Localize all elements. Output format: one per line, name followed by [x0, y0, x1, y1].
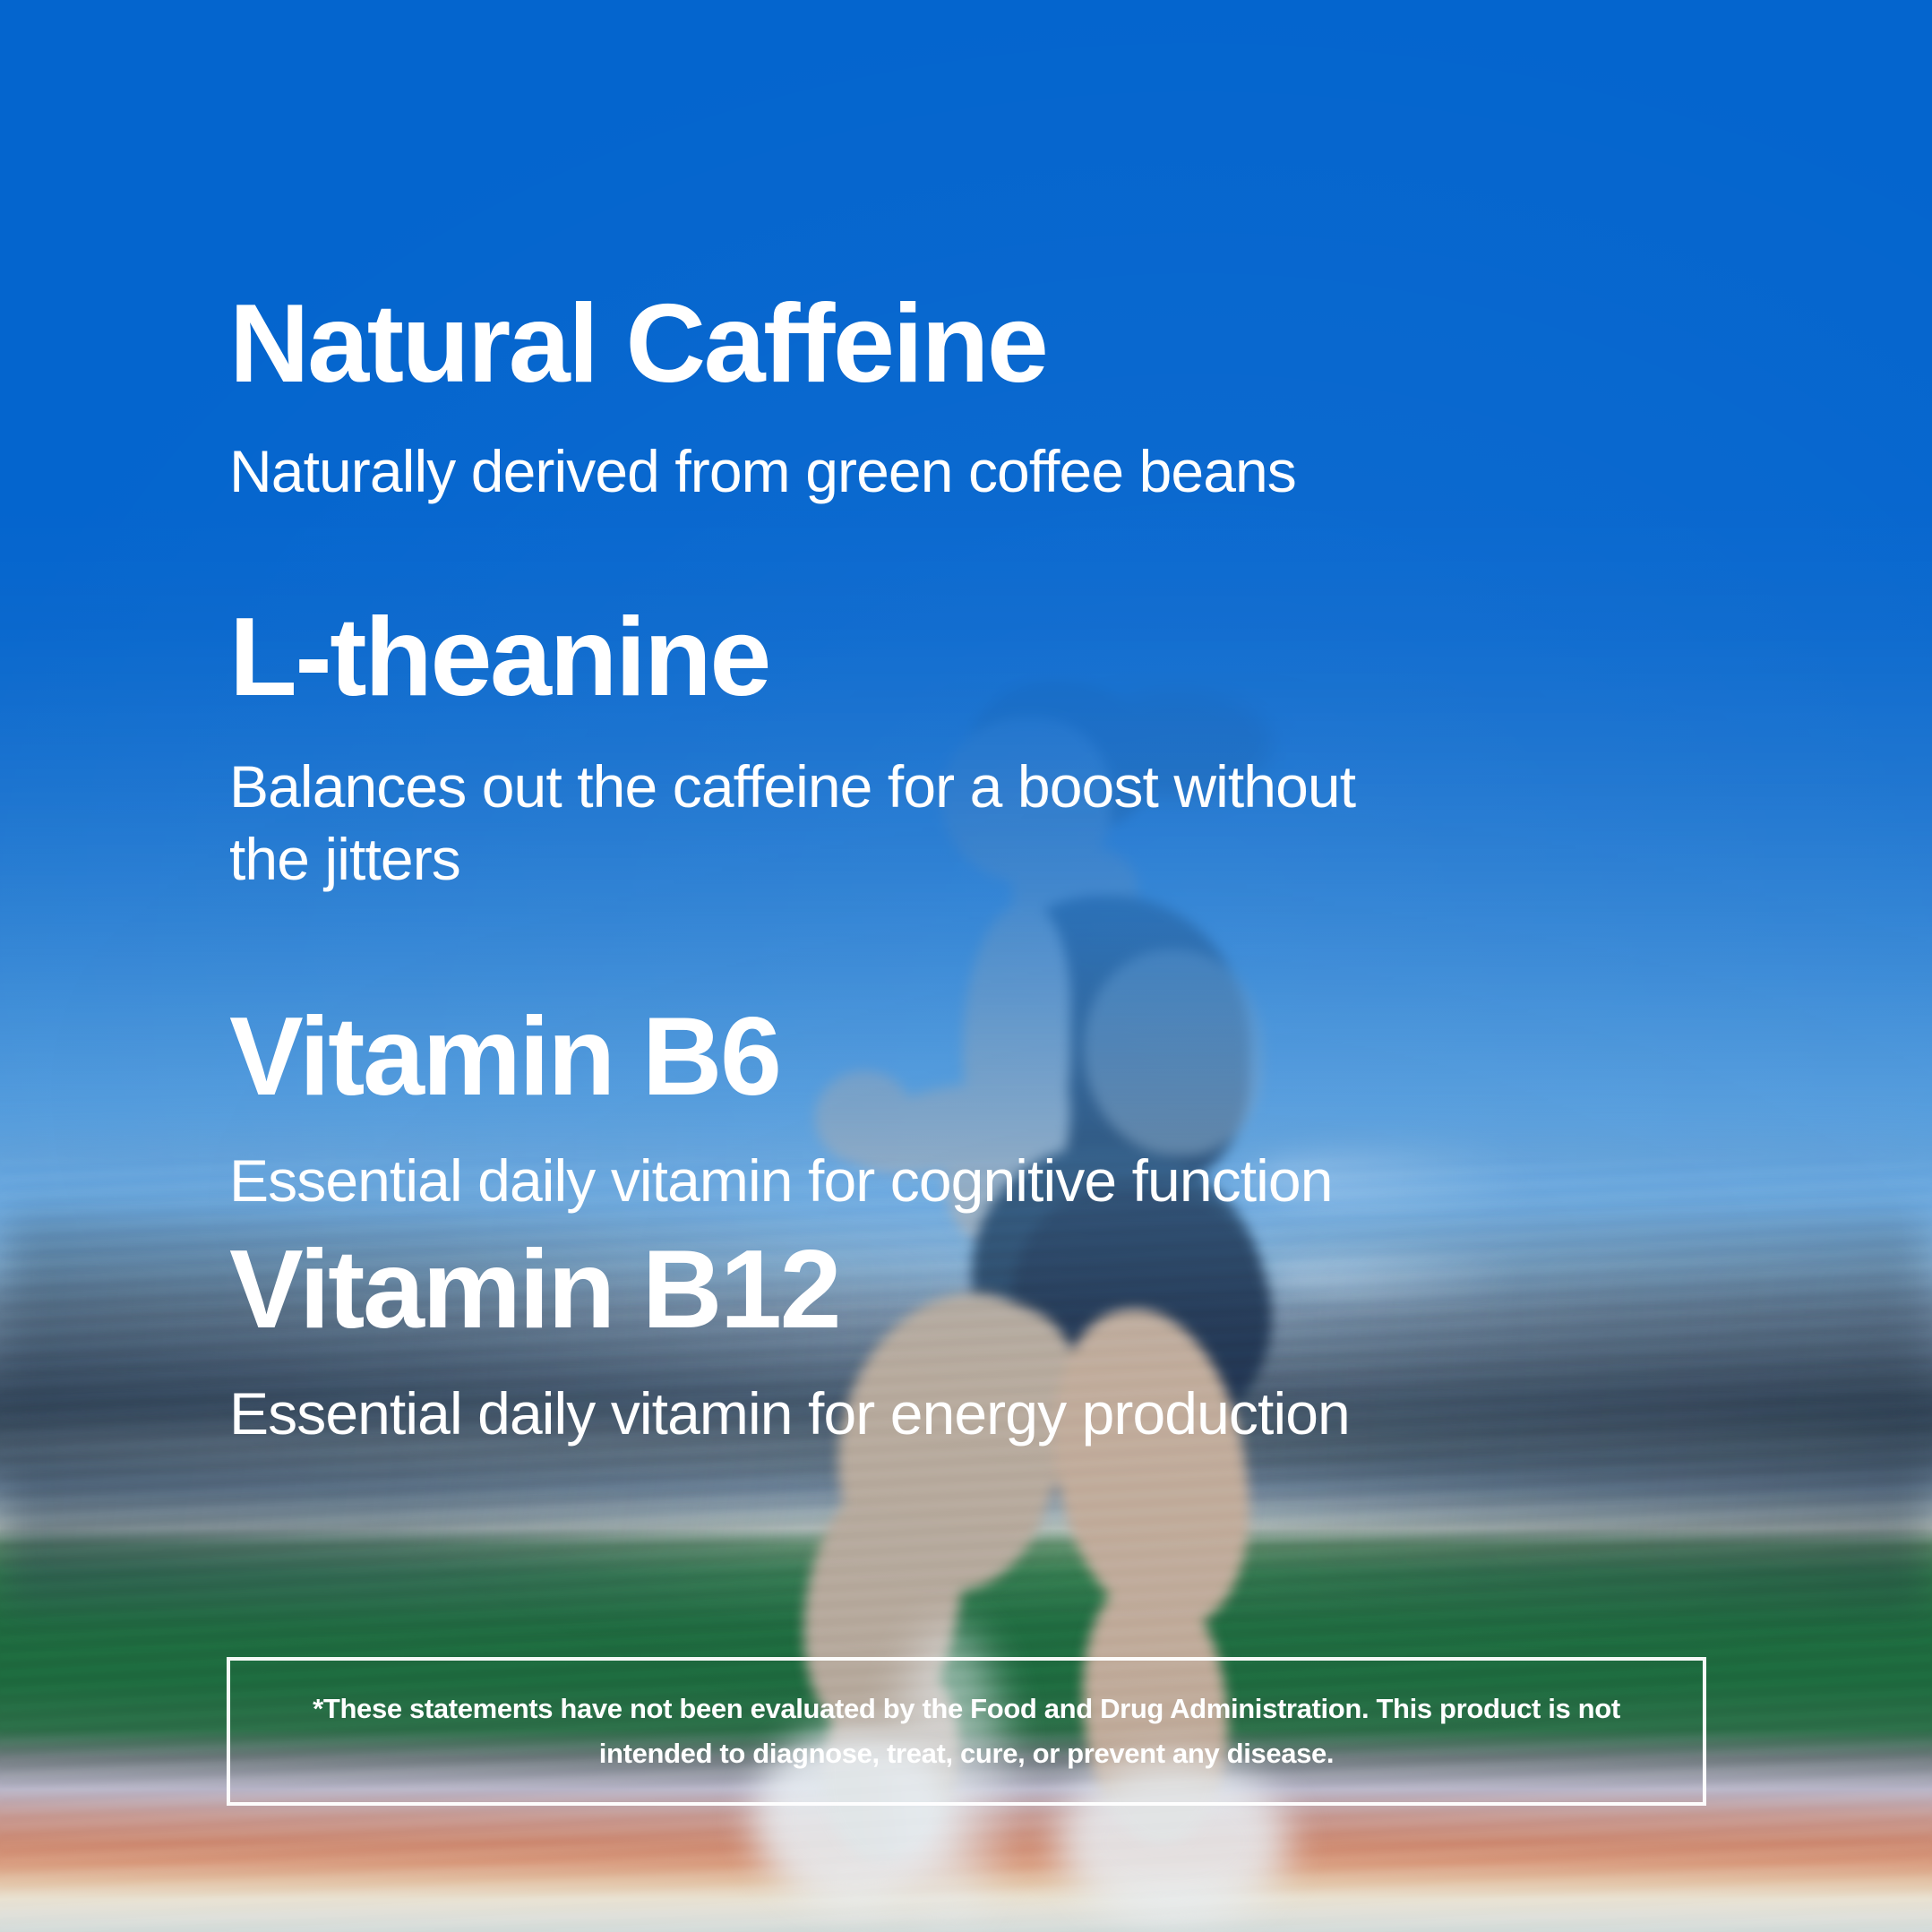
ingredient-body-caffeine: Naturally derived from green coffee bean…	[229, 435, 1296, 508]
ingredient-block-b12: Vitamin B12 Essential daily vitamin for …	[229, 1234, 1350, 1450]
disclaimer-box: *These statements have not been evaluate…	[227, 1657, 1706, 1806]
ingredient-heading-theanine: L-theanine	[229, 602, 1376, 713]
ingredient-block-b6: Vitamin B6 Essential daily vitamin for c…	[229, 1001, 1333, 1217]
ingredient-heading-b6: Vitamin B6	[229, 1001, 1333, 1112]
ingredient-heading-caffeine: Natural Caffeine	[229, 288, 1296, 399]
ingredient-body-b12: Essential daily vitamin for energy produ…	[229, 1378, 1350, 1450]
disclaimer-text: *These statements have not been evaluate…	[277, 1687, 1656, 1776]
content-overlay: Natural Caffeine Naturally derived from …	[0, 0, 1932, 1932]
promo-graphic: Natural Caffeine Naturally derived from …	[0, 0, 1932, 1932]
ingredient-block-theanine: L-theanine Balances out the caffeine for…	[229, 602, 1376, 895]
ingredient-body-b6: Essential daily vitamin for cognitive fu…	[229, 1145, 1333, 1217]
ingredient-body-theanine: Balances out the caffeine for a boost wi…	[229, 751, 1376, 895]
ingredient-block-caffeine: Natural Caffeine Naturally derived from …	[229, 288, 1296, 508]
ingredient-heading-b12: Vitamin B12	[229, 1234, 1350, 1345]
